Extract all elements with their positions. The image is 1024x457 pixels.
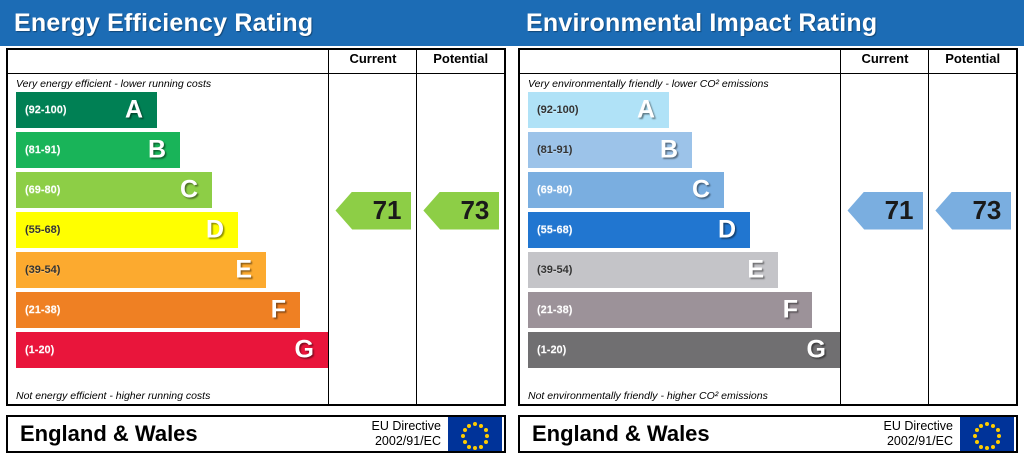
band-letter-g: G xyxy=(295,335,314,364)
footer-directive-line2-env: 2002/91/EC xyxy=(884,434,953,449)
energy-efficiency-panel: Energy Efficiency Rating Current Potenti… xyxy=(0,0,512,457)
band-range-a: (92-100) xyxy=(16,104,67,116)
energy-efficiency-table-wrap: Current Potential Very energy efficient … xyxy=(0,46,512,406)
band-row-c-env: (69-80) C xyxy=(528,172,724,208)
header-current: Current xyxy=(329,49,417,73)
caption-bottom: Not energy efficient - higher running co… xyxy=(8,386,210,402)
bands-cell: Very energy efficient - lower running co… xyxy=(7,73,329,405)
potential-arrow-wrap-env: 73 xyxy=(929,74,1016,404)
band-letter-a-env: A xyxy=(637,95,655,124)
band-row-b-env: (81-91) B xyxy=(528,132,692,168)
potential-cell-env: 73 xyxy=(929,73,1017,405)
band-row-b: (81-91) B xyxy=(16,132,180,168)
header-current-label: Current xyxy=(349,51,396,66)
band-row-a-env: (92-100) A xyxy=(528,92,669,128)
header-chart-blank xyxy=(7,49,329,73)
environmental-impact-table-wrap: Current Potential Very environmentally f… xyxy=(512,46,1024,406)
potential-cell: 73 xyxy=(417,73,505,405)
band-letter-c-env: C xyxy=(692,175,710,204)
band-row-f-env: (21-38) F xyxy=(528,292,812,328)
current-cell: 71 xyxy=(329,73,417,405)
header-current-env: Current xyxy=(841,49,929,73)
header-potential: Potential xyxy=(417,49,505,73)
band-range-f-env: (21-38) xyxy=(528,304,572,316)
table-body-row: Very energy efficient - lower running co… xyxy=(7,73,505,405)
current-arrow-wrap: 71 xyxy=(329,74,416,404)
band-row-e: (39-54) E xyxy=(16,252,266,288)
footer-directive-line1-env: EU Directive xyxy=(884,419,953,434)
environmental-impact-titlebar: Environmental Impact Rating xyxy=(512,0,1024,46)
band-range-e-env: (39-54) xyxy=(528,264,572,276)
current-rating-value: 71 xyxy=(373,195,402,226)
band-letter-e-env: E xyxy=(747,255,764,284)
page-title: Energy Efficiency Rating xyxy=(14,9,313,38)
band-range-d-env: (55-68) xyxy=(528,224,572,236)
table-header-row: Current Potential xyxy=(7,49,505,73)
bands-cell-env: Very environmentally friendly - lower CO… xyxy=(519,73,841,405)
footer-directive-env: EU Directive 2002/91/EC xyxy=(884,419,960,449)
band-letter-e: E xyxy=(235,255,252,284)
band-letter-f-env: F xyxy=(783,295,798,324)
caption-top-env: Very environmentally friendly - lower CO… xyxy=(520,74,840,90)
band-range-d: (55-68) xyxy=(16,224,60,236)
band-range-g-env: (1-20) xyxy=(528,344,566,356)
energy-efficiency-grid: Current Potential Very energy efficient … xyxy=(6,48,506,406)
header-potential-label-env: Potential xyxy=(945,51,1000,66)
band-row-g: (1-20) G xyxy=(16,332,328,368)
band-row-c: (69-80) C xyxy=(16,172,212,208)
table-header-row: Current Potential xyxy=(519,49,1017,73)
band-row-f: (21-38) F xyxy=(16,292,300,328)
band-letter-f: F xyxy=(271,295,286,324)
band-range-f: (21-38) xyxy=(16,304,60,316)
header-potential-env: Potential xyxy=(929,49,1017,73)
band-letter-b: B xyxy=(148,135,166,164)
potential-rating-arrow: 73 xyxy=(423,192,499,230)
band-range-c: (69-80) xyxy=(16,184,60,196)
band-list-env: (92-100) A (81-91) B (69-80) C xyxy=(520,90,840,368)
band-range-c-env: (69-80) xyxy=(528,184,572,196)
footer-directive: EU Directive 2002/91/EC xyxy=(372,419,448,449)
environmental-impact-grid: Current Potential Very environmentally f… xyxy=(518,48,1018,406)
current-arrow-wrap-env: 71 xyxy=(841,74,928,404)
current-rating-value-env: 71 xyxy=(885,195,914,226)
band-row-a: (92-100) A xyxy=(16,92,157,128)
environmental-impact-footer: England & Wales EU Directive 2002/91/EC xyxy=(518,415,1018,453)
band-range-g: (1-20) xyxy=(16,344,54,356)
environmental-impact-panel: Environmental Impact Rating Current Pote… xyxy=(512,0,1024,457)
current-cell-env: 71 xyxy=(841,73,929,405)
header-potential-label: Potential xyxy=(433,51,488,66)
band-range-a-env: (92-100) xyxy=(528,104,579,116)
caption-bottom-env: Not environmentally friendly - higher CO… xyxy=(520,386,768,402)
band-letter-a: A xyxy=(125,95,143,124)
eu-flag-icon-env xyxy=(960,417,1014,451)
potential-rating-value: 73 xyxy=(460,195,489,226)
band-letter-b-env: B xyxy=(660,135,678,164)
current-rating-arrow-env: 71 xyxy=(847,192,923,230)
energy-efficiency-titlebar: Energy Efficiency Rating xyxy=(0,0,512,46)
footer-region: England & Wales xyxy=(8,421,372,447)
band-row-d-env: (55-68) D xyxy=(528,212,750,248)
footer-directive-line1: EU Directive xyxy=(372,419,441,434)
header-chart-blank-env xyxy=(519,49,841,73)
energy-efficiency-footer: England & Wales EU Directive 2002/91/EC xyxy=(6,415,506,453)
band-letter-d-env: D xyxy=(718,215,736,244)
eu-flag-icon xyxy=(448,417,502,451)
table-body-row: Very environmentally friendly - lower CO… xyxy=(519,73,1017,405)
band-row-d: (55-68) D xyxy=(16,212,238,248)
band-letter-d: D xyxy=(206,215,224,244)
band-row-e-env: (39-54) E xyxy=(528,252,778,288)
band-letter-c: C xyxy=(180,175,198,204)
header-current-label-env: Current xyxy=(861,51,908,66)
current-rating-arrow: 71 xyxy=(335,192,411,230)
band-range-b-env: (81-91) xyxy=(528,144,572,156)
epc-rating-chart: Energy Efficiency Rating Current Potenti… xyxy=(0,0,1024,457)
potential-rating-arrow-env: 73 xyxy=(935,192,1011,230)
page-title-environmental: Environmental Impact Rating xyxy=(526,9,877,38)
footer-directive-line2: 2002/91/EC xyxy=(372,434,441,449)
band-letter-g-env: G xyxy=(807,335,826,364)
band-row-g-env: (1-20) G xyxy=(528,332,840,368)
potential-rating-value-env: 73 xyxy=(972,195,1001,226)
footer-region-env: England & Wales xyxy=(520,421,884,447)
potential-arrow-wrap: 73 xyxy=(417,74,504,404)
band-list: (92-100) A (81-91) B (69-80) C xyxy=(8,90,328,368)
caption-top: Very energy efficient - lower running co… xyxy=(8,74,328,90)
band-range-b: (81-91) xyxy=(16,144,60,156)
band-range-e: (39-54) xyxy=(16,264,60,276)
